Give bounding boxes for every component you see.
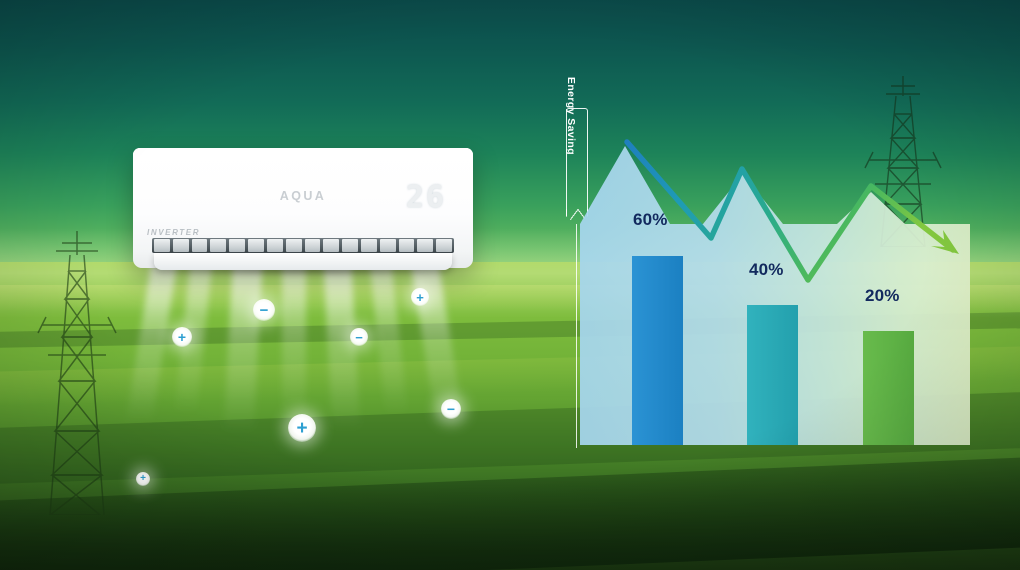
air-conditioner-unit[interactable]: AQUA 26 INVERTER bbox=[133, 148, 473, 268]
ion-particle: + bbox=[136, 472, 150, 486]
bar-eco3 bbox=[632, 256, 683, 445]
chart-svg bbox=[575, 130, 975, 452]
value-label-eco3: 60% bbox=[633, 210, 668, 230]
ion-particle: + bbox=[288, 414, 316, 442]
scene-root: AQUA 26 INVERTER + − + − + − + Energy Sa… bbox=[0, 0, 1020, 570]
bar-eco1 bbox=[863, 331, 914, 445]
ac-temperature-display: 26 bbox=[406, 180, 446, 215]
ac-louvre-flap[interactable] bbox=[154, 253, 452, 270]
bar-eco2 bbox=[747, 305, 798, 445]
ac-brand-logo: AQUA bbox=[280, 189, 326, 203]
transmission-tower-left-icon bbox=[32, 225, 122, 515]
value-label-eco2: 40% bbox=[749, 260, 784, 280]
ion-particle: − bbox=[441, 399, 461, 419]
ion-particle: + bbox=[411, 288, 429, 306]
ac-inverter-label: INVERTER bbox=[147, 228, 200, 237]
value-label-eco1: 20% bbox=[865, 286, 900, 306]
ion-particle: − bbox=[253, 299, 275, 321]
energy-saving-bar-chart: 60% 40% 20% Eco3 Eco2 Eco1 bbox=[575, 130, 975, 452]
ion-particle: + bbox=[172, 327, 192, 347]
ion-particle: − bbox=[350, 328, 368, 346]
ac-air-vent bbox=[152, 238, 454, 253]
